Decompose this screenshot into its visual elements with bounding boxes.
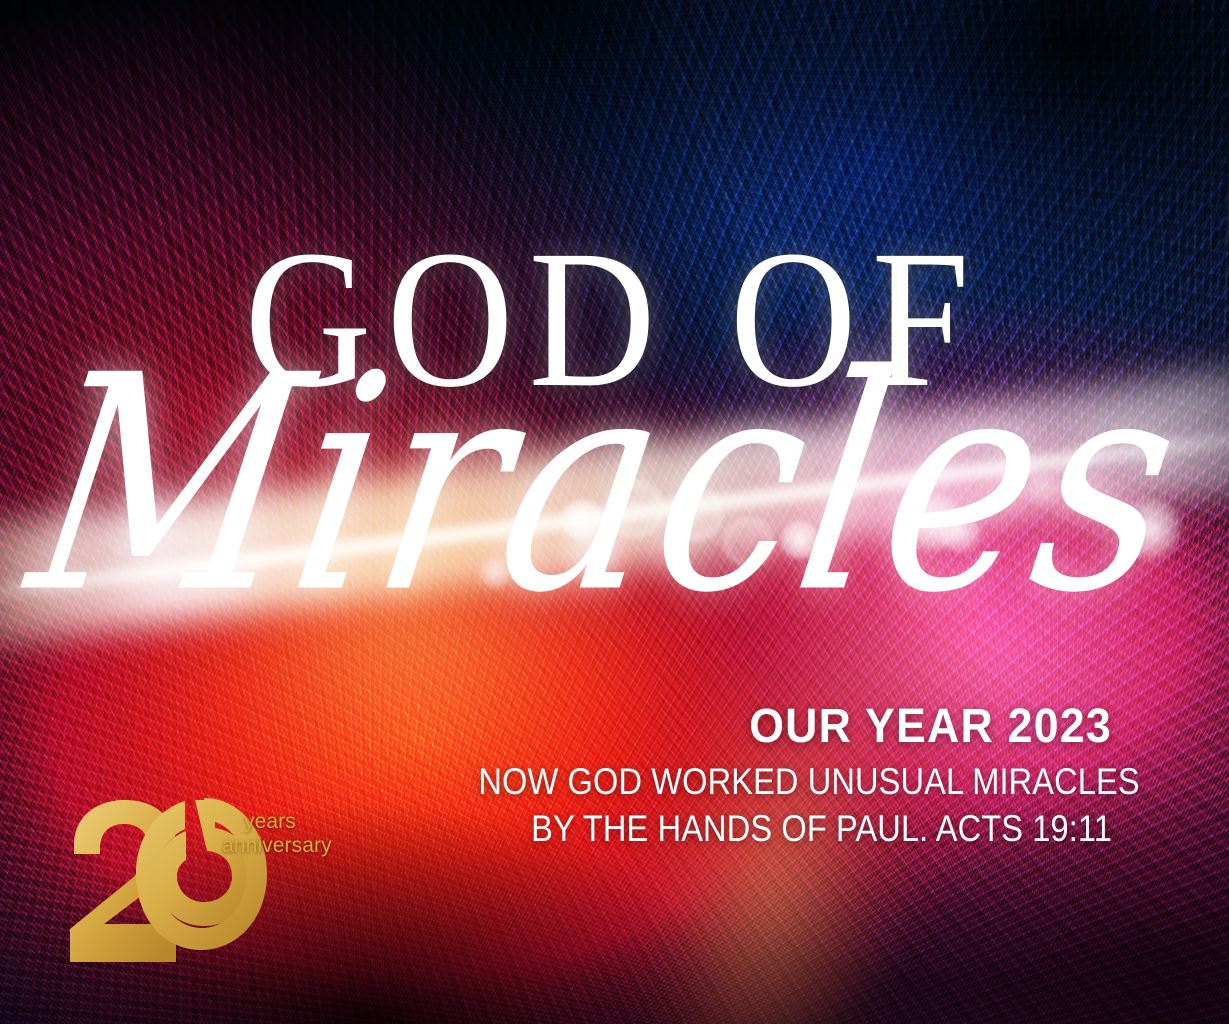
poster-canvas: GOD OF Miracles OUR YEAR 2023 NOW GOD WO… xyxy=(0,0,1229,1024)
anniversary-years-label: years xyxy=(244,810,332,834)
verse-line-1: NOW GOD WORKED UNUSUAL MIRACLES xyxy=(478,759,1112,806)
verse-line-2: BY THE HANDS OF PAUL. ACTS 19:11 xyxy=(478,806,1112,853)
anniversary-caption: years anniversary xyxy=(222,810,332,857)
anniversary-logo: years anniversary xyxy=(64,798,364,974)
anniversary-label: anniversary xyxy=(222,834,332,858)
script-subtitle: Miracles xyxy=(16,337,1229,634)
verse-title: OUR YEAR 2023 xyxy=(442,703,1112,752)
verse-block: OUR YEAR 2023 NOW GOD WORKED UNUSUAL MIR… xyxy=(392,703,1112,853)
